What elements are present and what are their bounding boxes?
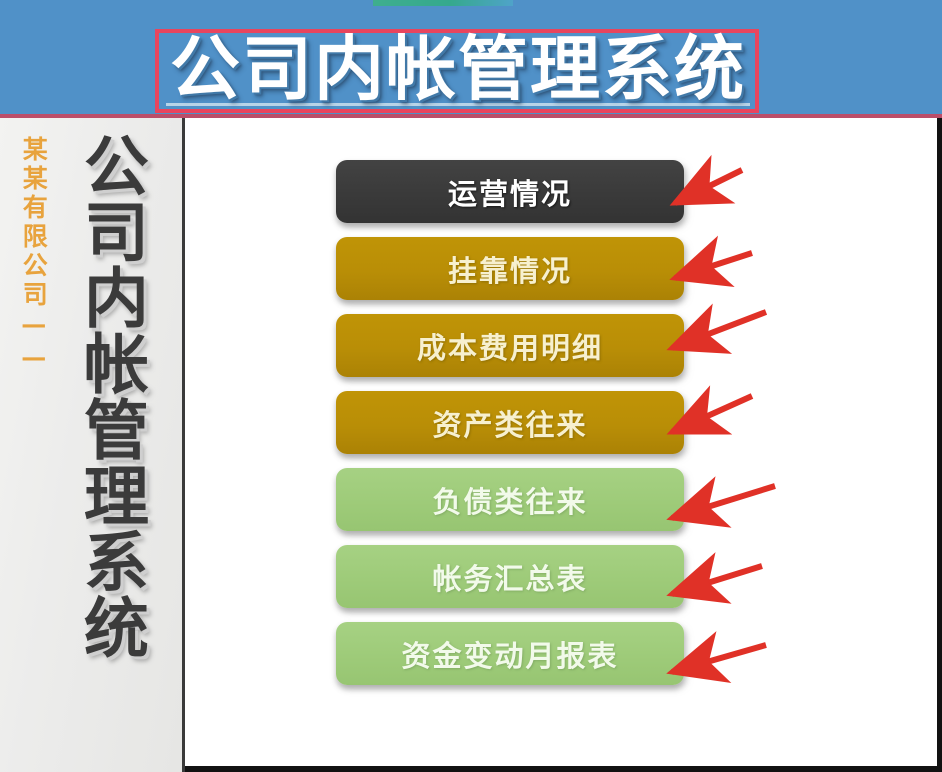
menu-item-asset-dealings[interactable]: 资产类往来 — [336, 391, 684, 454]
menu-list: 运营情况 挂靠情况 成本费用明细 资产类往来 负债类往来 帐务汇总表 资金变动月… — [336, 160, 684, 699]
menu-item-affiliation[interactable]: 挂靠情况 — [336, 237, 684, 300]
sidebar-company-label: 某某有限公司—— — [20, 136, 46, 376]
menu-item-fund-monthly-report[interactable]: 资金变动月报表 — [336, 622, 684, 685]
menu-item-operations[interactable]: 运营情况 — [336, 160, 684, 223]
sidebar-system-label: 公司内帐管理系统 — [78, 132, 140, 660]
menu-item-account-summary[interactable]: 帐务汇总表 — [336, 545, 684, 608]
slide-root: 公司内帐管理系统 某某有限公司—— 公司内帐管理系统 运营情况 挂靠情况 成本费… — [0, 0, 942, 772]
menu-item-cost-detail[interactable]: 成本费用明细 — [336, 314, 684, 377]
menu-item-liability-dealings[interactable]: 负债类往来 — [336, 468, 684, 531]
top-accent-strip — [373, 0, 513, 6]
page-title: 公司内帐管理系统 — [160, 28, 756, 110]
sidebar: 某某有限公司—— 公司内帐管理系统 — [0, 118, 185, 772]
